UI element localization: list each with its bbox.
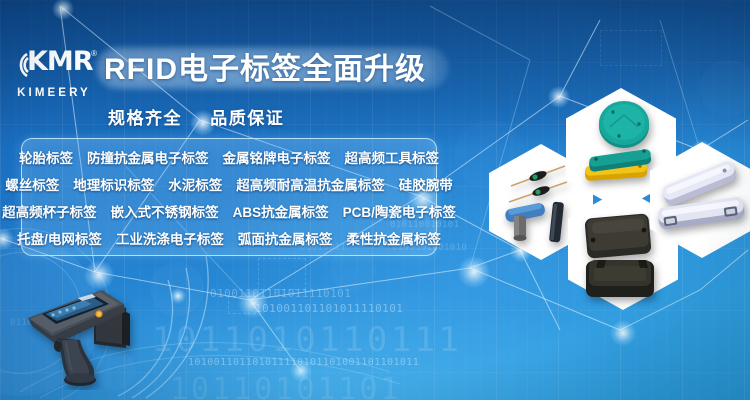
banner-canvas: 01001101101011110101 1010011011010111101…	[0, 0, 750, 400]
background-vignette	[0, 0, 750, 400]
